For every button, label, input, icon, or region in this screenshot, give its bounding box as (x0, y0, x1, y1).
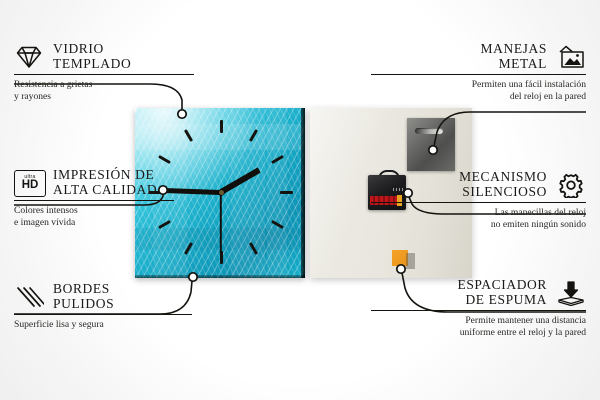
feature-header: ultra HD IMPRESIÓN DE ALTA CALIDAD (14, 168, 229, 197)
feature-title: MECANISMO SILENCIOSO (459, 170, 547, 199)
feature-manejas-metal: MANEJAS METAL Permiten una fácil instala… (371, 42, 586, 103)
feature-title: MANEJAS METAL (481, 42, 547, 71)
clock-hour-mark (220, 120, 223, 133)
feature-description: Las manecillas del reloj no emiten ningú… (371, 207, 586, 230)
picture-hanger-icon (556, 44, 586, 70)
foam-spacer (392, 250, 408, 266)
glass-edge-bottom (135, 275, 305, 278)
face-stripe (231, 108, 265, 278)
feature-impresion-alta-calidad: ultra HD IMPRESIÓN DE ALTA CALIDAD Color… (14, 168, 229, 229)
hanger-slot (415, 128, 443, 134)
gear-icon (556, 172, 586, 198)
foam-spacer-shadow (406, 253, 415, 269)
feature-title: VIDRIO TEMPLADO (53, 42, 131, 71)
feature-title: IMPRESIÓN DE ALTA CALIDAD (53, 168, 157, 197)
feature-divider (14, 74, 194, 75)
feature-divider (371, 202, 586, 203)
feature-title: ESPACIADOR DE ESPUMA (457, 278, 547, 307)
glass-edge (301, 108, 305, 278)
clock-hour-mark (280, 191, 293, 194)
feature-header: BORDES PULIDOS (14, 282, 229, 311)
feature-divider (14, 314, 192, 315)
feature-divider (14, 200, 174, 201)
infographic-canvas: VIDRIO TEMPLADO Resistencia a grietas y … (0, 0, 600, 400)
diamond-icon (14, 44, 44, 70)
ultra-hd-icon: ultra HD (14, 170, 44, 196)
feature-description: Colores intensos e imagen vívida (14, 205, 229, 228)
feature-bordes-pulidos: BORDES PULIDOS Superficie lisa y segura (14, 282, 229, 331)
feature-espaciador-espuma: ESPACIADOR DE ESPUMA Permite mantener un… (371, 278, 586, 339)
feature-divider (371, 74, 586, 75)
feature-header: MANEJAS METAL (371, 42, 586, 71)
feature-mecanismo-silencioso: MECANISMO SILENCIOSO Las manecillas del … (371, 170, 586, 231)
spacer-arrow-icon (556, 280, 586, 306)
feature-description: Permiten una fácil instalación del reloj… (371, 79, 586, 102)
polished-edges-icon (14, 284, 44, 310)
metal-hanger-plate (407, 118, 455, 171)
feature-divider (371, 310, 586, 311)
feature-vidrio-templado: VIDRIO TEMPLADO Resistencia a grietas y … (14, 42, 229, 103)
feature-header: MECANISMO SILENCIOSO (371, 170, 586, 199)
feature-description: Permite mantener una distancia uniforme … (371, 315, 586, 338)
feature-description: Superficie lisa y segura (14, 319, 229, 331)
feature-header: ESPACIADOR DE ESPUMA (371, 278, 586, 307)
feature-description: Resistencia a grietas y rayones (14, 79, 229, 102)
feature-title: BORDES PULIDOS (53, 282, 114, 311)
feature-header: VIDRIO TEMPLADO (14, 42, 229, 71)
